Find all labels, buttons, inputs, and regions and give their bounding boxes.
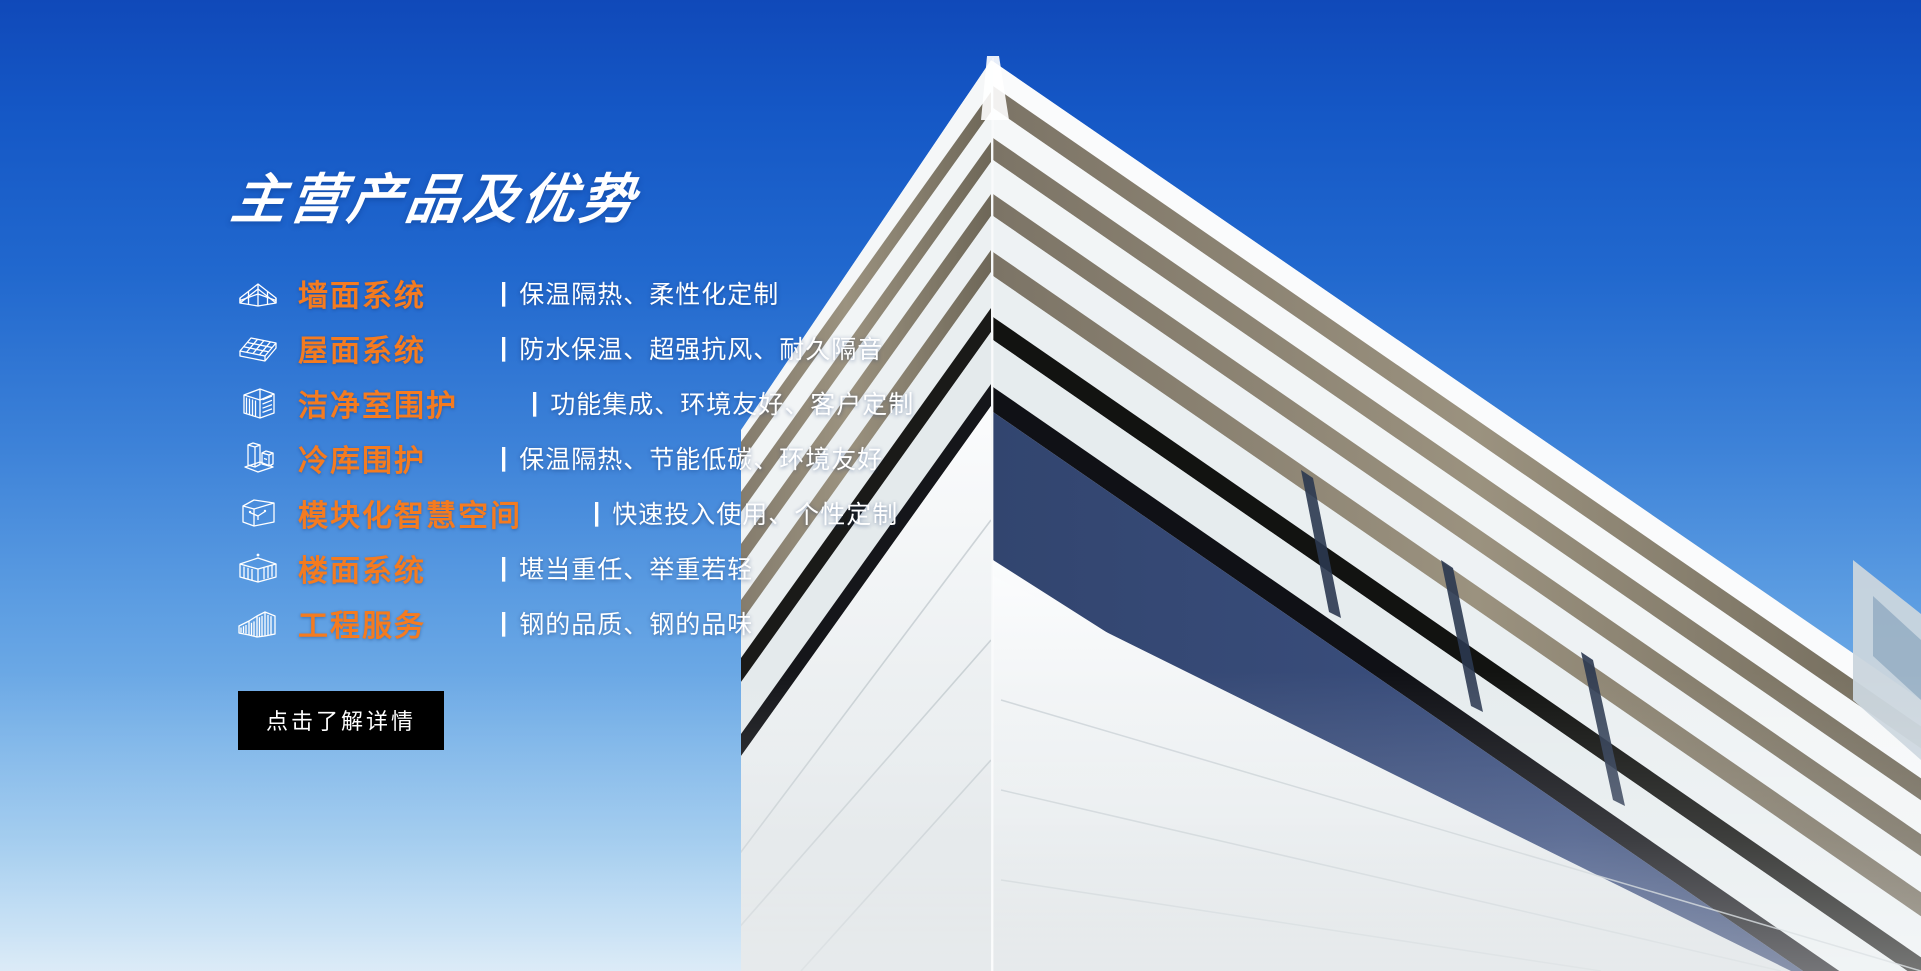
separator: | [500,609,507,635]
product-desc: 功能集成、环境友好、客户定制 [550,385,914,421]
separator: | [500,279,507,305]
product-desc: 堪当重任、举重若轻 [519,550,753,586]
product-list: 墙面系统 | 保温隔热、柔性化定制 [232,266,1252,651]
product-desc: 保温隔热、节能低碳、环境友好 [519,440,883,476]
cleanroom-icon [232,382,284,424]
product-row-roof-system[interactable]: 屋面系统 | 防水保温、超强抗风、耐久隔音 [232,321,1252,376]
banner-stage: 主营产品及优势 墙面系统 | 保温隔热、柔性化定制 [0,0,1921,971]
product-row-wall-system[interactable]: 墙面系统 | 保温隔热、柔性化定制 [232,266,1252,321]
product-row-engineering-service[interactable]: 工程服务 | 钢的品质、钢的品味 [232,596,1252,651]
product-name: 墙面系统 [298,271,484,315]
product-desc: 快速投入使用、个性定制 [612,495,898,531]
separator: | [500,554,507,580]
floor-system-icon [232,547,284,589]
product-row-floor-system[interactable]: 楼面系统 | 堪当重任、举重若轻 [232,541,1252,596]
product-desc: 保温隔热、柔性化定制 [519,275,779,311]
product-row-cold-storage[interactable]: 冷库围护 | 保温隔热、节能低碳、环境友好 [232,431,1252,486]
product-row-modular-space[interactable]: 模块化智慧空间 | 快速投入使用、个性定制 [232,486,1252,541]
modular-space-icon [232,492,284,534]
product-name: 工程服务 [298,601,484,645]
engineering-service-icon [232,602,284,644]
product-name: 模块化智慧空间 [298,491,577,535]
product-desc: 防水保温、超强抗风、耐久隔音 [519,330,883,366]
separator: | [593,499,600,525]
product-name: 屋面系统 [298,326,484,370]
product-name: 楼面系统 [298,546,484,590]
wall-panel-icon [232,272,284,314]
separator: | [500,444,507,470]
cold-storage-icon [232,437,284,479]
product-name: 洁净室围护 [298,381,515,425]
page-title: 主营产品及优势 [228,168,1257,232]
learn-more-button[interactable]: 点击了解详情 [238,691,444,750]
separator: | [531,389,538,415]
product-name: 冷库围护 [298,436,484,480]
roof-panel-icon [232,327,284,369]
separator: | [500,334,507,360]
banner-content: 主营产品及优势 墙面系统 | 保温隔热、柔性化定制 [232,168,1252,750]
product-desc: 钢的品质、钢的品味 [519,605,753,641]
product-row-cleanroom[interactable]: 洁净室围护 | 功能集成、环境友好、客户定制 [232,376,1252,431]
